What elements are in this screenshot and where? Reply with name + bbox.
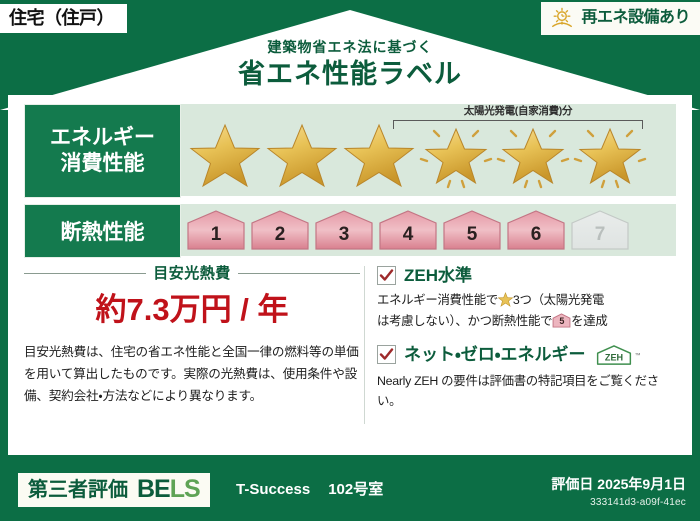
energy-key-line1: エネルギー	[50, 125, 155, 151]
insulation-key-label: 断熱性能	[61, 216, 145, 246]
title-subtitle: 建築物省エネ法に基づく	[0, 40, 700, 54]
insulation-level-3-number: 3	[313, 225, 375, 244]
label-content: エネルギー 消費性能 太陽光発電(自家消費)分	[24, 104, 676, 424]
evaluation-info: 評価日 2025年9月1日 333141d3-a09f-41ec	[551, 477, 686, 508]
zeh-standard-block: ZEH水準 エネルギー消費性能で3つ（太陽光発電は考慮しない）、かつ断熱性能で5…	[377, 266, 672, 332]
bels-logo-part2: LS	[170, 475, 200, 503]
star-2	[264, 117, 340, 191]
zeh-logo: ZEH ™	[594, 344, 641, 366]
lower-section: 目安光熱費 約7.3万円 / 年 目安光熱費は、住宅の省エネ性能と全国一律の燃料…	[24, 266, 676, 424]
zeh-desc-part3: を達成	[571, 314, 607, 328]
zeh-standard-description: エネルギー消費性能で3つ（太陽光発電は考慮しない）、かつ断熱性能で5を達成	[377, 290, 672, 332]
certification-section: ZEH水準 エネルギー消費性能で3つ（太陽光発電は考慮しない）、かつ断熱性能で5…	[364, 266, 672, 424]
star-5-solar	[495, 117, 571, 191]
insulation-level-3: 3	[313, 208, 375, 252]
star-6-solar	[572, 117, 648, 191]
insulation-level-7-number: 7	[569, 225, 631, 244]
check-icon	[379, 347, 394, 362]
insulation-level-2-number: 2	[249, 225, 311, 244]
zeh-desc-part2: は考慮しない）、かつ断熱性能で	[377, 314, 552, 328]
net-zero-title-row: ネット・ゼロ・エネルギー ZEH ™	[377, 344, 672, 366]
insulation-level-6-number: 6	[505, 225, 567, 244]
room-number: 102号室	[328, 481, 383, 498]
utility-cost-section: 目安光熱費 約7.3万円 / 年 目安光熱費は、住宅の省エネ性能と全国一律の燃料…	[24, 266, 364, 424]
renewable-badge-label: 再エネ設備あり	[581, 10, 690, 26]
building-info: T-Success102号室	[236, 482, 383, 497]
insulation-level-4: 4	[377, 208, 439, 252]
insulation-level-4-number: 4	[377, 225, 439, 244]
net-zero-checkbox[interactable]	[377, 345, 396, 364]
inline-house-number: 5	[552, 317, 571, 326]
energy-performance-label: 住宅（住戸） 再エネ設備あり 建築物省エネ法に基づく 省エネ性能ラベル エネルギ…	[0, 0, 700, 521]
zeh-desc-star-text: 3つ（太陽光発電	[513, 293, 604, 307]
zeh-standard-label: ZEH水準	[404, 267, 472, 284]
category-tag: 住宅（住戸）	[0, 4, 127, 33]
inline-star-icon	[498, 292, 513, 307]
label-title: 建築物省エネ法に基づく 省エネ性能ラベル	[0, 40, 700, 88]
insulation-level-5: 5	[441, 208, 503, 252]
zeh-desc-part1: エネルギー消費性能で	[377, 293, 498, 307]
zeh-standard-checkbox[interactable]	[377, 266, 396, 285]
bels-jp-label: 第三者評価	[28, 480, 128, 500]
bels-logo-part1: BE	[137, 475, 170, 503]
title-main: 省エネ性能ラベル	[0, 61, 700, 88]
energy-star-rating	[187, 117, 648, 191]
insulation-level-7: 7	[569, 208, 631, 252]
zeh-logo-tm: ™	[635, 353, 641, 359]
utility-cost-heading-label: 目安光熱費	[153, 266, 231, 281]
bels-logo: BELS	[137, 477, 200, 502]
bels-certification-plate: 第三者評価 BELS	[18, 473, 210, 507]
evaluation-date: 評価日 2025年9月1日	[551, 477, 686, 491]
net-zero-energy-block: ネット・ゼロ・エネルギー ZEH ™ Nearly ZEH の要件は評価書の特記…	[377, 344, 672, 413]
net-zero-label: ネット・ゼロ・エネルギー	[404, 346, 586, 363]
star-4-solar	[418, 117, 494, 191]
insulation-performance-row: 断熱性能 1 2	[24, 204, 676, 258]
insulation-performance-key: 断熱性能	[24, 204, 181, 258]
evaluation-id: 333141d3-a09f-41ec	[551, 498, 686, 508]
insulation-performance-panel: 1 2 3 4 5	[181, 204, 676, 256]
check-icon	[379, 268, 394, 283]
heading-rule-right	[238, 273, 360, 274]
energy-key-line2: 消費性能	[61, 151, 145, 177]
net-zero-description: Nearly ZEH の要件は評価書の特記項目をご覧ください。	[377, 371, 672, 413]
energy-performance-row: エネルギー 消費性能 太陽光発電(自家消費)分	[24, 104, 676, 198]
solar-annotation-label: 太陽光発電(自家消費)分	[393, 106, 643, 117]
heading-rule-left	[24, 273, 146, 274]
insulation-level-scale: 1 2 3 4 5	[185, 208, 631, 252]
star-1	[187, 117, 263, 191]
svg-text:ZEH: ZEH	[604, 352, 622, 362]
building-name: T-Success	[236, 481, 310, 498]
utility-cost-note: 目安光熱費は、住宅の省エネ性能と全国一律の燃料等の単価を用いて算出したものです。…	[24, 341, 360, 407]
insulation-level-6: 6	[505, 208, 567, 252]
insulation-level-5-number: 5	[441, 225, 503, 244]
zeh-standard-title-row: ZEH水準	[377, 266, 672, 285]
renewable-equipment-badge: 再エネ設備あり	[541, 2, 700, 35]
energy-performance-key: エネルギー 消費性能	[24, 104, 181, 198]
utility-cost-value: 約7.3万円 / 年	[24, 294, 360, 325]
energy-performance-stars-panel: 太陽光発電(自家消費)分	[181, 104, 676, 196]
insulation-level-1-number: 1	[185, 225, 247, 244]
label-footer: 第三者評価 BELS T-Success102号室 評価日 2025年9月1日 …	[0, 465, 700, 521]
inline-house-icon: 5	[552, 313, 571, 328]
insulation-level-2: 2	[249, 208, 311, 252]
utility-cost-heading: 目安光熱費	[24, 266, 360, 281]
insulation-level-1: 1	[185, 208, 247, 252]
star-3	[341, 117, 417, 191]
sun-icon	[550, 6, 574, 30]
